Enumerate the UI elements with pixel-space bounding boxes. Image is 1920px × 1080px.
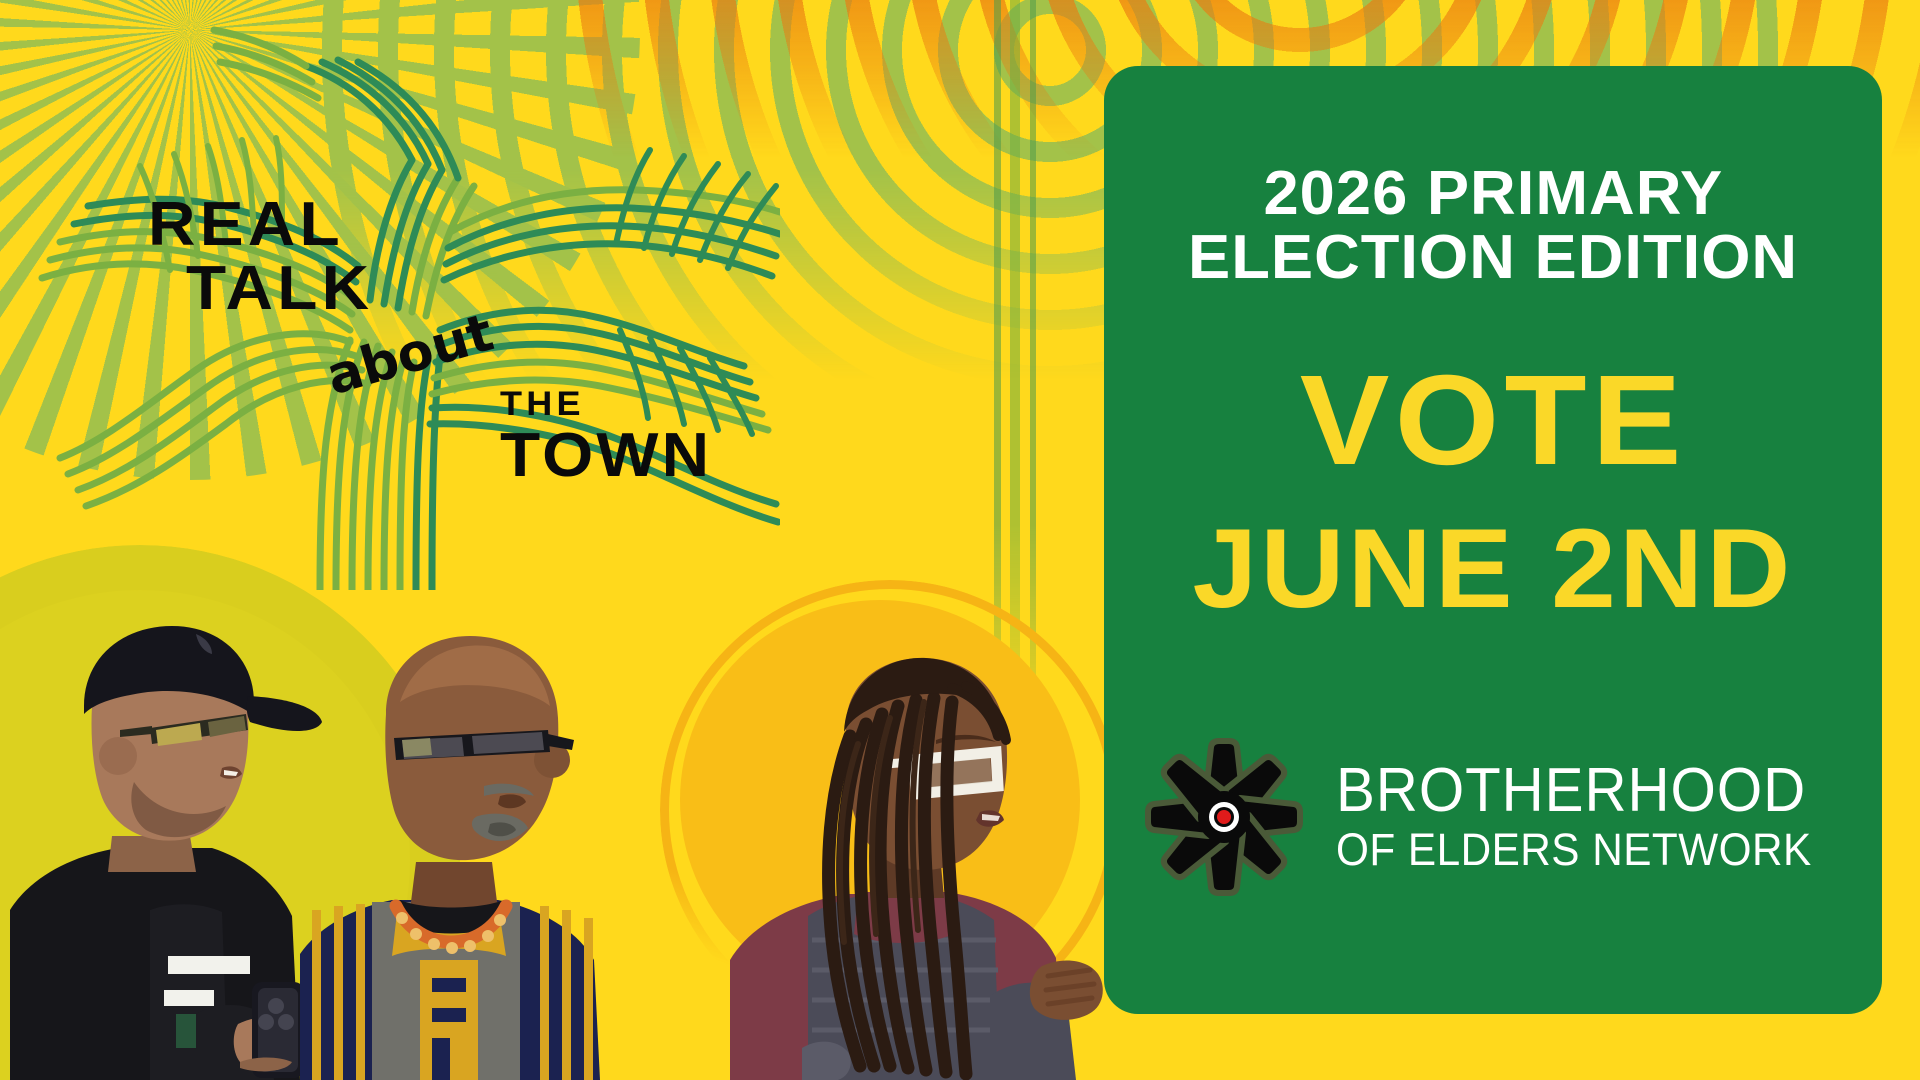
sponsor-logo: BROTHERHOOD OF ELDERS NETWORK <box>1144 737 1842 897</box>
card-kicker-line-2: ELECTION EDITION <box>1188 226 1798 290</box>
photo-woman-with-locs <box>690 640 1110 1080</box>
sponsor-name: BROTHERHOOD OF ELDERS NETWORK <box>1336 762 1842 872</box>
election-info-card: 2026 PRIMARY ELECTION EDITION VOTE JUNE … <box>1104 66 1882 1014</box>
brand-word-town: TOWN <box>500 429 712 484</box>
brand-word-the: THE <box>500 390 585 420</box>
oak-tree-logo-icon: REAL TALK about THE TOWN <box>20 0 780 590</box>
brand-word-talk: TALK <box>186 262 373 317</box>
photo-interviewer-and-elder <box>0 610 640 1080</box>
sponsor-name-line-1: BROTHERHOOD <box>1336 762 1812 821</box>
card-kicker-line-1: 2026 PRIMARY <box>1263 162 1723 226</box>
sponsor-name-line-2: OF ELDERS NETWORK <box>1336 829 1812 872</box>
card-headline-vote: VOTE <box>1300 357 1687 485</box>
poster-canvas: REAL TALK about THE TOWN <box>0 0 1920 1080</box>
card-headline-date: JUNE 2ND <box>1192 513 1793 625</box>
brand-word-real: REAL <box>148 198 344 253</box>
brotherhood-of-elders-asterisk-mark-icon <box>1144 737 1304 897</box>
